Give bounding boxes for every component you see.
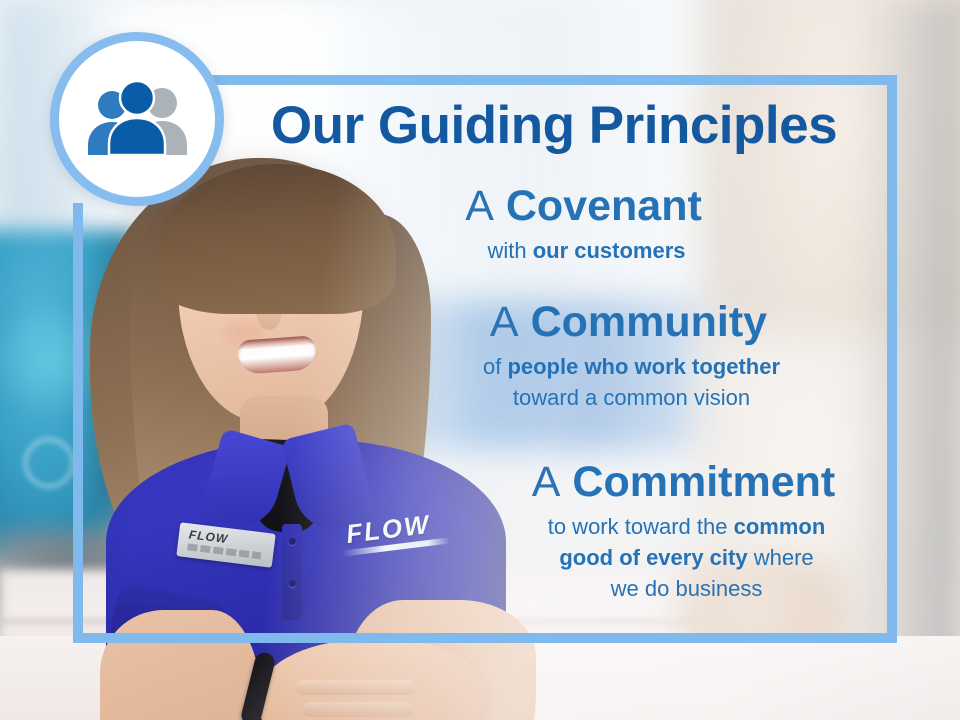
- principle-keyword: Community: [531, 298, 768, 346]
- principle-subtext: of people who work togethertoward a comm…: [210, 351, 897, 413]
- principle-covenant: A Covenant with our customers: [210, 180, 897, 266]
- subtext-emphasis: good of every city: [559, 545, 747, 570]
- subtext-emphasis: our customers: [533, 238, 686, 263]
- principle-headline: A Covenant: [210, 180, 897, 232]
- subtext-line: with our customers: [276, 235, 897, 266]
- principle-keyword: Commitment: [572, 458, 835, 506]
- principle-subtext: to work toward the commongood of every c…: [210, 511, 897, 604]
- subtext-plain: to work toward the: [548, 514, 734, 539]
- subtext-plain: toward a common vision: [513, 385, 750, 410]
- subtext-line: of people who work together: [366, 351, 897, 382]
- subtext-emphasis: common: [734, 514, 826, 539]
- guiding-principles-graphic: FLOW FLOW: [0, 0, 960, 720]
- page-title: Our Guiding Principles: [224, 97, 884, 155]
- principle-article: A: [465, 182, 494, 230]
- people-group-icon: [83, 81, 191, 157]
- subtext-plain: we do business: [611, 576, 763, 601]
- principle-article: A: [490, 298, 519, 346]
- subtext-line: toward a common vision: [366, 382, 897, 413]
- text-content: Our Guiding Principles A Covenant with o…: [210, 75, 897, 643]
- principle-headline: A Community: [210, 296, 897, 348]
- finger: [302, 702, 414, 717]
- subtext-emphasis: people who work together: [507, 354, 780, 379]
- people-group-badge: [50, 32, 224, 206]
- subtext-plain: with: [487, 238, 532, 263]
- finger: [296, 680, 416, 695]
- subtext-plain: where: [748, 545, 814, 570]
- subtext-line: good of every city where: [476, 542, 897, 573]
- principle-commitment: A Commitment to work toward the commongo…: [210, 456, 897, 604]
- subtext-line: we do business: [476, 573, 897, 604]
- principle-community: A Community of people who work togethert…: [210, 296, 897, 413]
- principle-subtext: with our customers: [210, 235, 897, 266]
- subtext-line: to work toward the common: [476, 511, 897, 542]
- principle-headline: A Commitment: [210, 456, 897, 508]
- principle-keyword: Covenant: [506, 182, 702, 230]
- principle-article: A: [532, 458, 561, 506]
- subtext-plain: of: [483, 354, 507, 379]
